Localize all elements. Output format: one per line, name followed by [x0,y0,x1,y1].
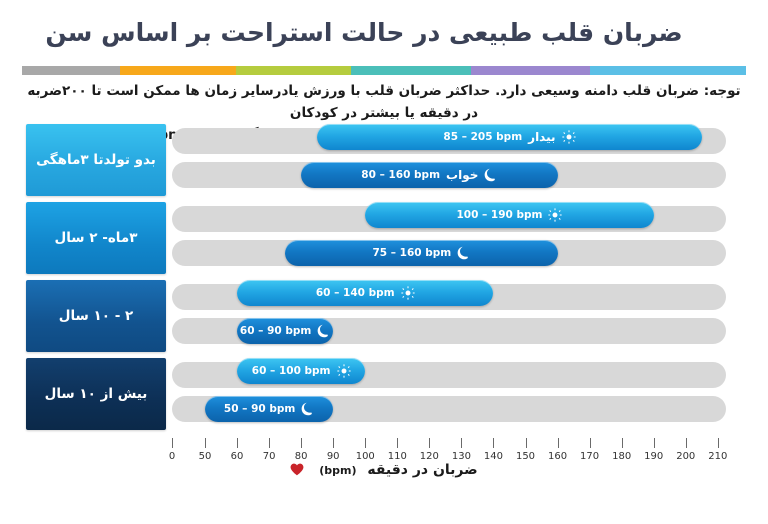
heart-rate-bar-sleep[interactable]: 75 – 160 bpm [285,240,557,266]
axis-tick [397,438,398,448]
x-axis-title: ضربان در دقیقه (bpm) [0,462,768,480]
age-group-label-text: ۲ - ۱۰ سال [59,308,134,324]
axis-tick [493,438,494,448]
age-group-row: ۲ - ۱۰ سال60 – 140 bpm60 – 90 bpm [0,280,768,354]
heart-rate-bar-sleep[interactable]: خواب80 – 160 bpm [301,162,557,188]
bar-state-label: خواب [446,168,478,182]
axis-tick [365,438,366,448]
sun-icon [401,286,415,300]
strip-segment-4 [236,66,352,75]
axis-tick-label: 60 [231,451,244,462]
axis-tick-label: 90 [327,451,340,462]
bar-range-value: 85 – 205 bpm [443,131,522,143]
sun-icon [548,208,562,222]
color-strip [22,66,746,75]
axis-tick [429,438,430,448]
age-group-label-2: ۳ماه- ۲ سال [26,202,166,274]
axis-tick [622,438,623,448]
axis-tick [205,438,206,448]
axis-tick [590,438,591,448]
age-group-row: ۳ماه- ۲ سال100 – 190 bpm75 – 160 bpm [0,202,768,276]
heart-rate-bar-awake[interactable]: 60 – 100 bpm [237,358,365,384]
age-group-label-text: بیش از ۱۰ سال [45,386,148,402]
axis-tick-label: 170 [580,451,599,462]
axis-tick [686,438,687,448]
strip-segment-5 [120,66,236,75]
bar-range-value: 60 – 140 bpm [316,287,395,299]
strip-segment-3 [351,66,470,75]
heart-rate-bar-awake[interactable]: بیدار85 – 205 bpm [317,124,702,150]
bar-range-value: 60 – 90 bpm [240,325,311,337]
sun-icon [562,130,576,144]
age-group-row: بیش از ۱۰ سال60 – 100 bpm50 – 90 bpm [0,358,768,432]
axis-tick-label: 140 [484,451,503,462]
age-group-label-text: بدو تولدتا ۳ماهگی [36,152,156,168]
chart-area: بدو تولدتا ۳ماهگیبیدار85 – 205 bpmخواب80… [0,124,768,444]
x-axis-unit: (bpm) [319,464,356,477]
heart-rate-bar-sleep[interactable]: 60 – 90 bpm [237,318,333,344]
infographic-page: ضربان قلب طبیعی در حالت استراحت بر اساس … [0,0,768,524]
axis-tick [237,438,238,448]
age-group-label-3: ۲ - ۱۰ سال [26,280,166,352]
axis-tick [301,438,302,448]
axis-tick-label: 80 [295,451,308,462]
axis-tick-label: 110 [388,451,407,462]
axis-tick-label: 120 [420,451,439,462]
axis-tick-label: 160 [548,451,567,462]
moon-icon [457,246,470,260]
axis-tick-label: 0 [169,451,175,462]
bar-range-value: 80 – 160 bpm [361,169,440,181]
axis-tick-label: 210 [708,451,727,462]
bar-range-value: 50 – 90 bpm [224,403,295,415]
page-title: ضربان قلب طبیعی در حالت استراحت بر اساس … [0,18,768,47]
age-group-label-1: بدو تولدتا ۳ماهگی [26,124,166,196]
moon-icon [317,324,330,338]
axis-tick-label: 200 [676,451,695,462]
age-group-label-text: ۳ماه- ۲ سال [55,230,138,246]
axis-tick [526,438,527,448]
strip-segment-2 [471,66,590,75]
sun-icon [337,364,351,378]
axis-tick [461,438,462,448]
axis-tick [558,438,559,448]
axis-tick-label: 190 [644,451,663,462]
strip-segment-1 [590,66,746,75]
age-group-row: بدو تولدتا ۳ماهگیبیدار85 – 205 bpmخواب80… [0,124,768,198]
axis-tick-label: 130 [452,451,471,462]
axis-tick [172,438,173,448]
age-group-label-4: بیش از ۱۰ سال [26,358,166,430]
axis-tick-label: 100 [356,451,375,462]
axis-tick-label: 50 [199,451,212,462]
heart-rate-bar-awake[interactable]: 60 – 140 bpm [237,280,493,306]
axis-tick-label: 70 [263,451,276,462]
heart-rate-bar-sleep[interactable]: 50 – 90 bpm [205,396,333,422]
axis-tick [718,438,719,448]
axis-tick [654,438,655,448]
moon-icon [484,168,497,182]
bar-range-value: 60 – 100 bpm [252,365,331,377]
axis-tick [269,438,270,448]
x-axis-title-text: ضربان در دقیقه [367,462,477,478]
strip-segment-6 [22,66,120,75]
heart-icon [290,463,304,480]
axis-tick-label: 150 [516,451,535,462]
moon-icon [301,402,314,416]
heart-rate-bar-awake[interactable]: 100 – 190 bpm [365,202,653,228]
axis-tick-label: 180 [612,451,631,462]
bar-range-value: 75 – 160 bpm [372,247,451,259]
axis-tick [333,438,334,448]
bar-range-value: 100 – 190 bpm [456,209,542,221]
bar-state-label: بیدار [528,130,555,144]
note-line-1: توجه: ضربان قلب دامنه وسیعی دارد. حداکثر… [22,80,746,124]
